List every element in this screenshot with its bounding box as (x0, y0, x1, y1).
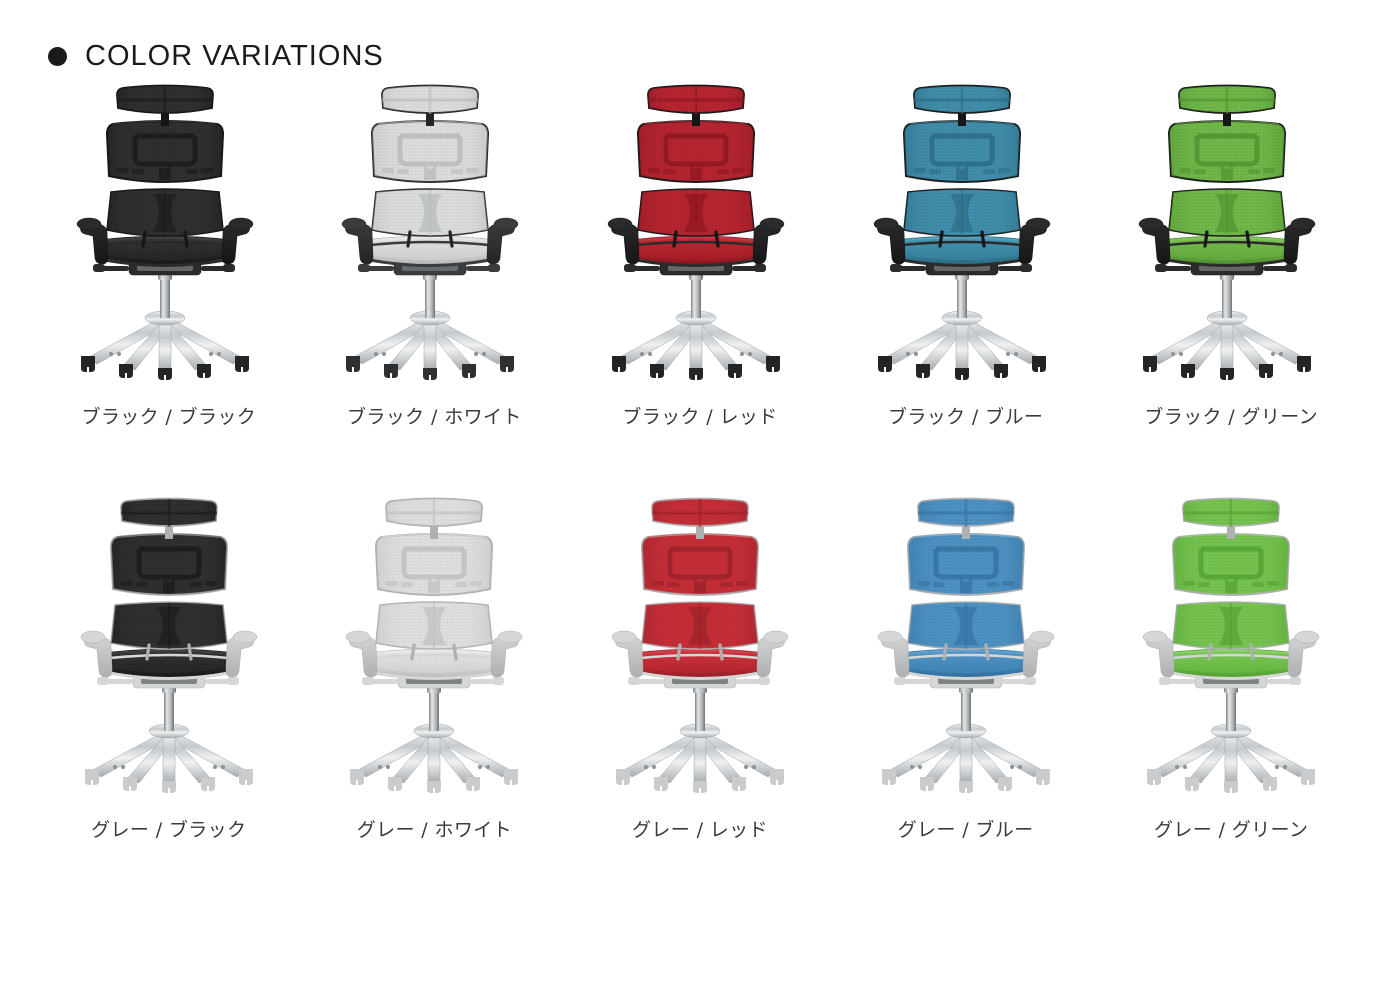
chair-base (85, 685, 253, 793)
variation-item-7[interactable]: グレー / ホワイト (302, 493, 568, 906)
chair-backrest (638, 121, 754, 182)
chair-illustration (600, 493, 800, 793)
variation-item-9[interactable]: グレー / ブルー (833, 493, 1099, 906)
chair-headrest (648, 86, 744, 127)
chair-image-10 (1111, 493, 1351, 793)
variation-item-3[interactable]: ブラック / レッド (567, 80, 833, 493)
chair-seat (894, 236, 1030, 266)
chair-backrest (1173, 534, 1289, 595)
variation-label-10: グレー / グリーン (1154, 815, 1308, 842)
chair-base (1147, 685, 1315, 793)
chair-seat (632, 649, 768, 679)
chair-illustration (600, 80, 800, 380)
variation-label-9: グレー / ブルー (898, 815, 1034, 842)
variation-item-5[interactable]: ブラック / グリーン (1098, 80, 1364, 493)
variation-label-6: グレー / ブラック (91, 815, 246, 842)
chair-seat (1159, 236, 1295, 266)
variation-label-5: ブラック / グリーン (1144, 402, 1318, 429)
chair-backrest (908, 534, 1024, 595)
chair-illustration (69, 493, 269, 793)
chair-illustration (866, 493, 1066, 793)
color-variations-grid: ブラック / ブラック (0, 80, 1400, 906)
chair-backrest (372, 121, 488, 182)
chair-image-8 (580, 493, 820, 793)
chair-image-5 (1111, 80, 1351, 380)
chair-base (882, 685, 1050, 793)
chair-image-7 (314, 493, 554, 793)
variation-item-1[interactable]: ブラック / ブラック (36, 80, 302, 493)
chair-backrest (904, 121, 1020, 182)
chair-headrest (918, 499, 1014, 540)
chair-backrest (642, 534, 758, 595)
chair-image-1 (49, 80, 289, 380)
chair-seat (628, 236, 764, 266)
chair-base (616, 685, 784, 793)
chair-backrest (111, 534, 227, 595)
variation-label-8: グレー / レッド (632, 815, 768, 842)
chair-seat (1163, 649, 1299, 679)
chair-illustration (69, 80, 269, 380)
chair-headrest (121, 499, 217, 540)
chair-illustration (1131, 80, 1331, 380)
chair-base (1143, 272, 1311, 380)
chair-headrest (914, 86, 1010, 127)
chair-base (612, 272, 780, 380)
chair-image-3 (580, 80, 820, 380)
page-header: COLOR VARIATIONS (0, 0, 1400, 56)
chair-image-4 (846, 80, 1086, 380)
chair-headrest (1183, 499, 1279, 540)
variation-label-1: ブラック / ブラック (81, 402, 256, 429)
chair-seat (101, 649, 237, 679)
bullet-dot-icon (48, 47, 67, 66)
variation-label-7: グレー / ホワイト (357, 815, 512, 842)
chair-image-2 (314, 80, 554, 380)
variation-label-3: ブラック / レッド (622, 402, 777, 429)
chair-illustration (334, 493, 534, 793)
chair-base (878, 272, 1046, 380)
chair-backrest (376, 534, 492, 595)
chair-headrest (117, 86, 213, 127)
chair-illustration (334, 80, 534, 380)
variation-item-4[interactable]: ブラック / ブルー (833, 80, 1099, 493)
chair-base (81, 272, 249, 380)
chair-headrest (652, 499, 748, 540)
chair-backrest (1169, 121, 1285, 182)
chair-illustration (1131, 493, 1331, 793)
variation-item-6[interactable]: グレー / ブラック (36, 493, 302, 906)
chair-seat (366, 649, 502, 679)
chair-seat (898, 649, 1034, 679)
chair-illustration (866, 80, 1066, 380)
chair-seat (97, 236, 233, 266)
chair-headrest (382, 86, 478, 127)
page-title: COLOR VARIATIONS (85, 42, 384, 71)
chair-image-6 (49, 493, 289, 793)
chair-backrest (107, 121, 223, 182)
chair-base (350, 685, 518, 793)
chair-headrest (386, 499, 482, 540)
variation-label-4: ブラック / ブルー (888, 402, 1043, 429)
chair-headrest (1179, 86, 1275, 127)
chair-seat (362, 236, 498, 266)
variation-label-2: ブラック / ホワイト (347, 402, 522, 429)
chair-base (346, 272, 514, 380)
variation-item-2[interactable]: ブラック / ホワイト (302, 80, 568, 493)
variation-item-10[interactable]: グレー / グリーン (1098, 493, 1364, 906)
variation-item-8[interactable]: グレー / レッド (567, 493, 833, 906)
chair-image-9 (846, 493, 1086, 793)
